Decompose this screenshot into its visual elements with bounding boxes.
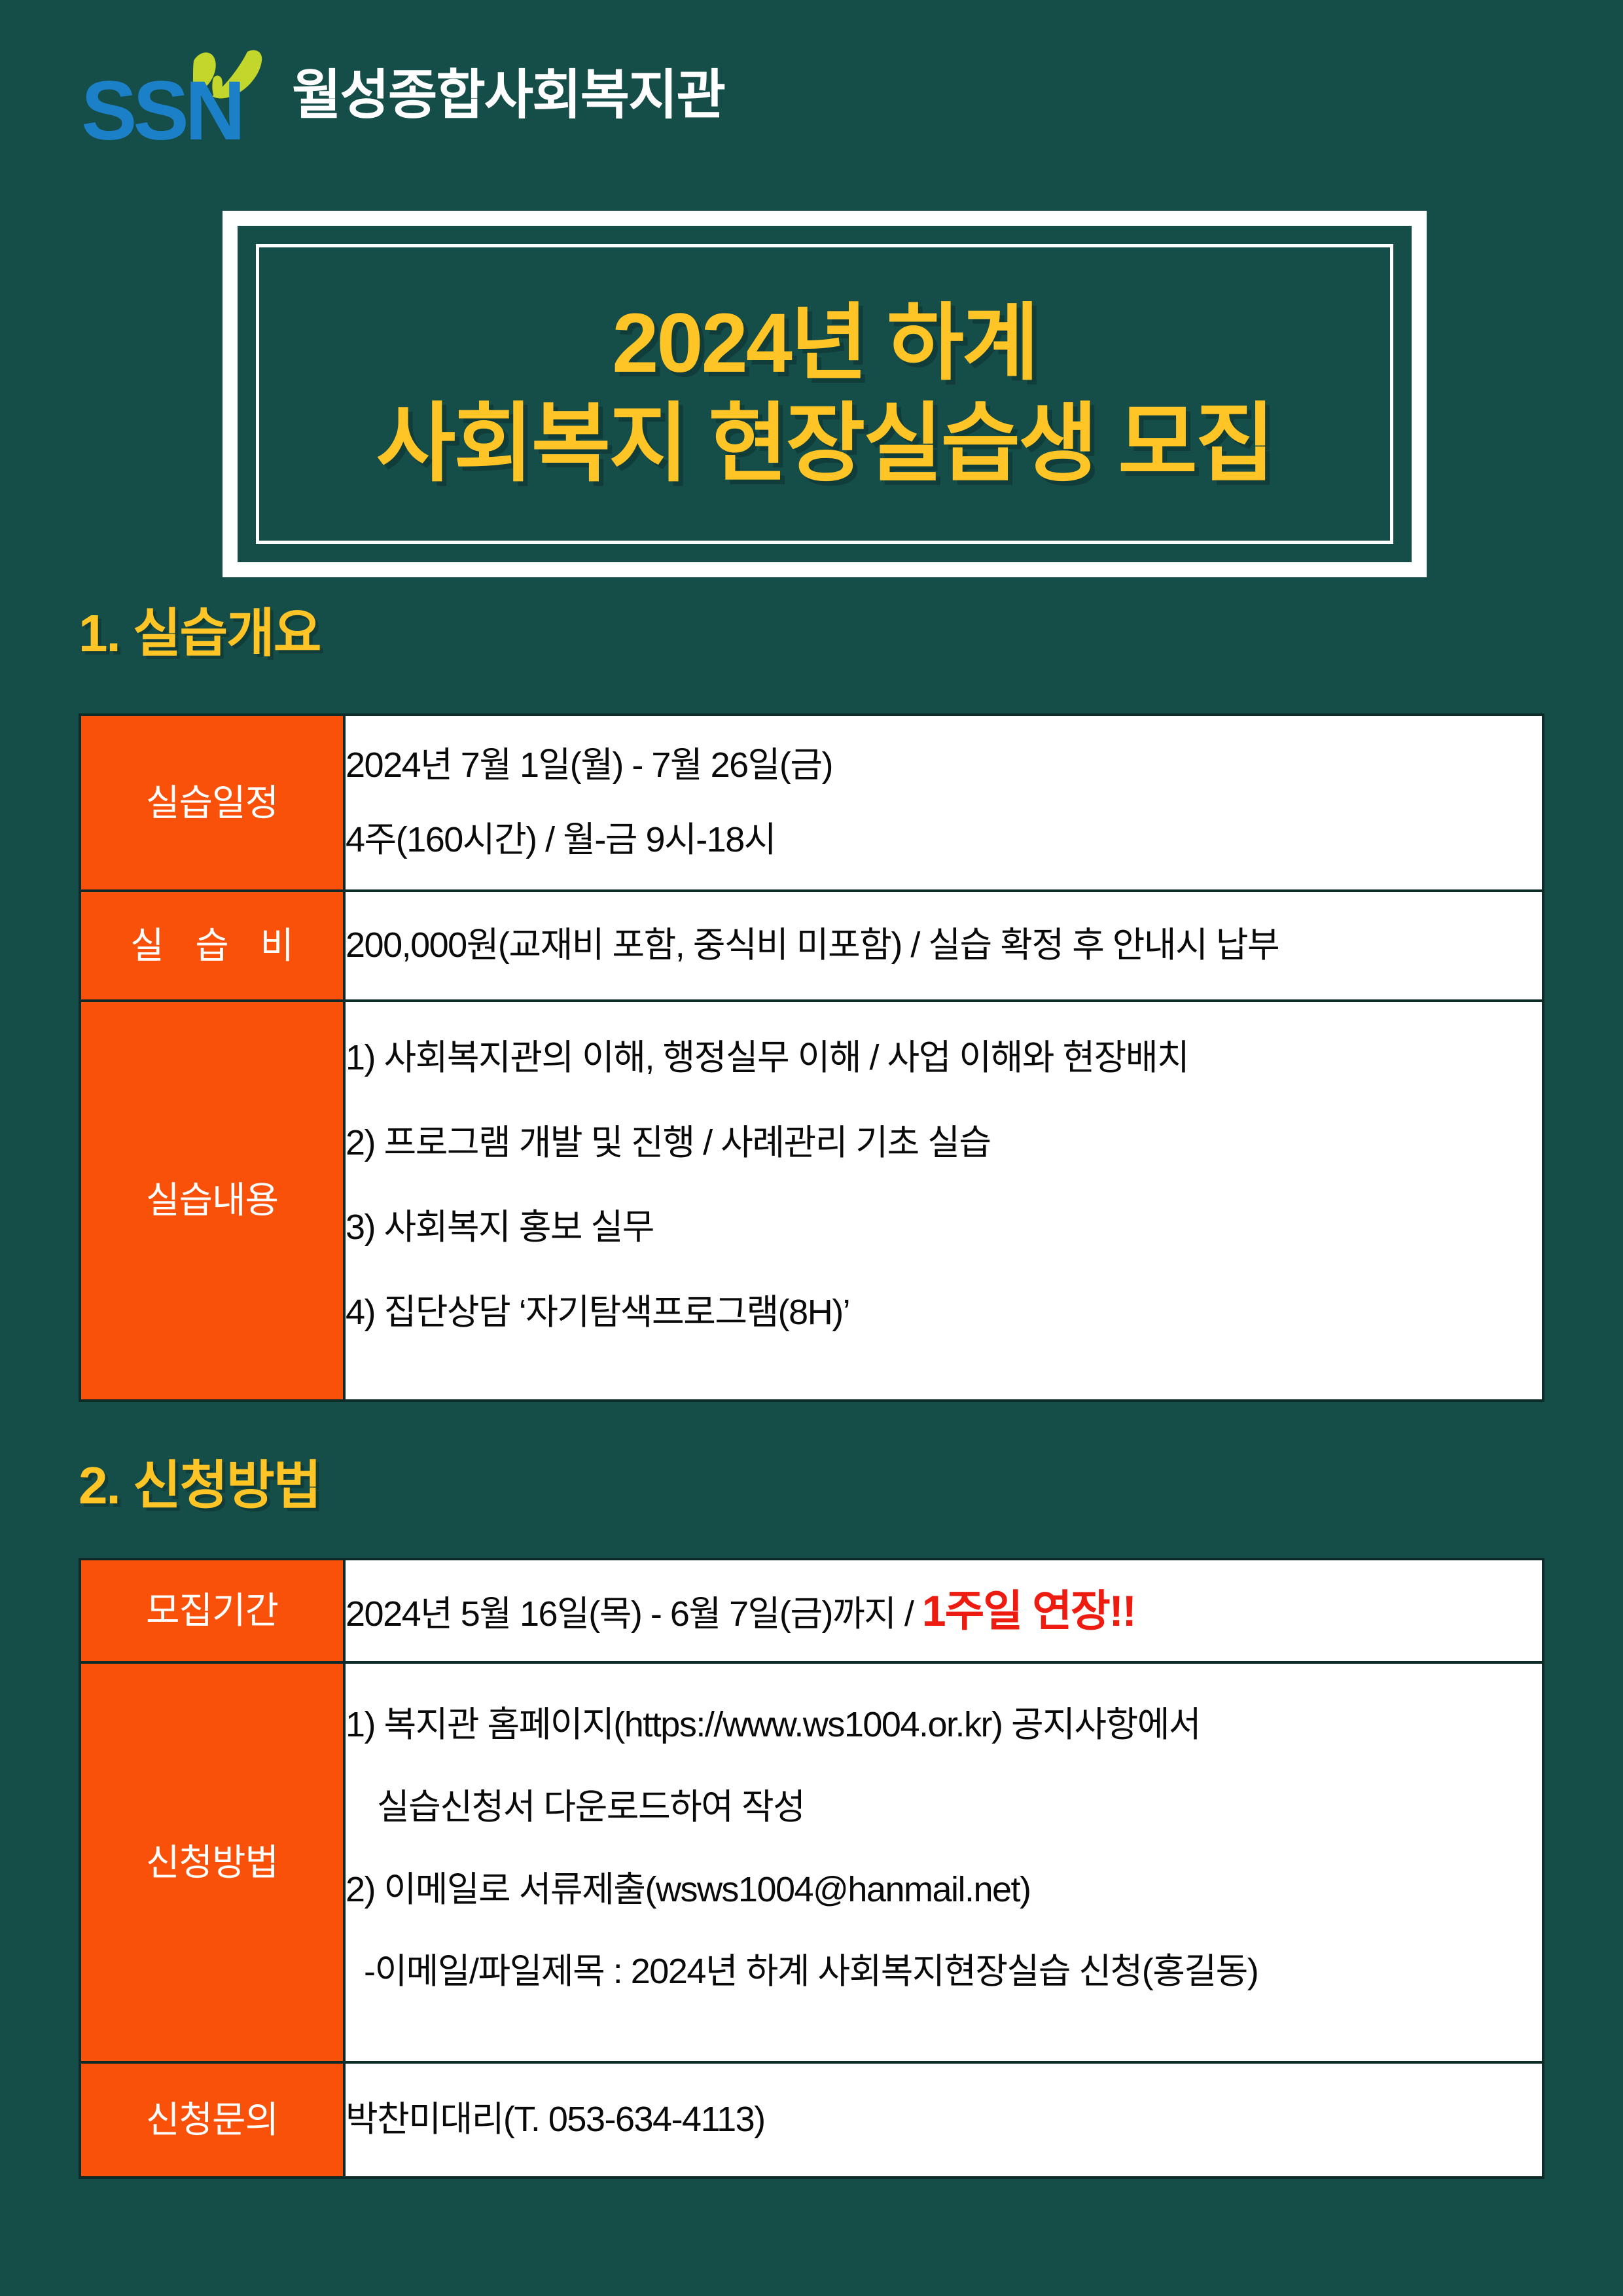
table-row: 실 습 비 200,000원(교재비 포함, 중식비 미포함) / 실습 확정 … [80, 891, 1543, 1001]
row-label-fee: 실 습 비 [80, 891, 344, 1001]
poster-header: SSN 월성종합사회복지관 [79, 33, 724, 151]
period-line: 2024년 5월 16일(목) - 6월 7일(금)까지 / 1주일 연장!! [346, 1577, 1542, 1644]
method-line-4: -이메일/파일제목 : 2024년 하계 사회복지현장실습 신청(홍길동) [346, 1945, 1542, 2000]
practicum-overview-table: 실습일정 2024년 7월 1일(월) - 7월 26일(금) 4주(160시간… [79, 713, 1544, 1402]
svg-text:SSN: SSN [81, 64, 241, 149]
title-banner: 2024년 하계 사회복지 현장실습생 모집 [223, 211, 1427, 577]
row-value-period: 2024년 5월 16일(목) - 6월 7일(금)까지 / 1주일 연장!! [344, 1559, 1543, 1662]
method-line-3: 2) 이메일로 서류제출(wsws1004@hanmail.net) [346, 1863, 1542, 1918]
row-value-method: 1) 복지관 홈페이지(https://www.ws1004.or.kr) 공지… [344, 1662, 1543, 2062]
content-line-3: 3) 사회복지 홍보 실무 [346, 1200, 1542, 1255]
content-line-1: 1) 사회복지관의 이해, 행정실무 이해 / 사업 이해와 현장배치 [346, 1031, 1542, 1086]
row-label-method: 신청방법 [80, 1662, 344, 2062]
inquiry-line-1: 박찬미대리(T. 053-634-4113) [346, 2092, 1542, 2147]
row-value-schedule: 2024년 7월 1일(월) - 7월 26일(금) 4주(160시간) / 월… [344, 715, 1543, 891]
method-line-2: 실습신청서 다운로드하여 작성 [346, 1780, 1542, 1835]
title-line-1: 2024년 하계 [612, 294, 1037, 393]
row-label-inquiry: 신청문의 [80, 2062, 344, 2178]
table-row: 신청문의 박찬미대리(T. 053-634-4113) [80, 2062, 1543, 2178]
row-value-fee: 200,000원(교재비 포함, 중식비 미포함) / 실습 확정 후 안내시 … [344, 891, 1543, 1001]
row-label-content: 실습내용 [80, 1001, 344, 1401]
row-label-schedule: 실습일정 [80, 715, 344, 891]
organization-name: 월성종합사회복지관 [292, 69, 724, 122]
period-extension-badge: 1주일 연장!! [922, 1587, 1135, 1635]
content-line-4: 4) 집단상담 ‘자기탐색프로그램(8H)’ [346, 1285, 1542, 1340]
title-line-2: 사회복지 현장실습생 모집 [376, 393, 1273, 495]
section-heading-overview: 1. 실습개요 [79, 607, 320, 660]
title-banner-inner: 2024년 하계 사회복지 현장실습생 모집 [238, 226, 1412, 562]
table-row: 신청방법 1) 복지관 홈페이지(https://www.ws1004.or.k… [80, 1662, 1543, 2062]
schedule-line-2: 4주(160시간) / 월-금 9시-18시 [346, 813, 1542, 868]
row-value-inquiry: 박찬미대리(T. 053-634-4113) [344, 2062, 1543, 2178]
poster-page: SSN 월성종합사회복지관 2024년 하계 사회복지 현장실습생 모집 1. … [0, 0, 1623, 2296]
title-banner-rule: 2024년 하계 사회복지 현장실습생 모집 [256, 244, 1393, 544]
section-heading-apply: 2. 신청방법 [79, 1460, 320, 1512]
period-dates: 2024년 5월 16일(목) - 6월 7일(금)까지 / [346, 1594, 922, 1634]
application-method-table: 모집기간 2024년 5월 16일(목) - 6월 7일(금)까지 / 1주일 … [79, 1558, 1544, 2179]
fee-line-1: 200,000원(교재비 포함, 중식비 미포함) / 실습 확정 후 안내시 … [346, 918, 1542, 973]
method-line-1: 1) 복지관 홈페이지(https://www.ws1004.or.kr) 공지… [346, 1698, 1542, 1753]
ssn-logo: SSN [79, 35, 275, 149]
row-value-content: 1) 사회복지관의 이해, 행정실무 이해 / 사업 이해와 현장배치 2) 프… [344, 1001, 1543, 1401]
table-row: 실습내용 1) 사회복지관의 이해, 행정실무 이해 / 사업 이해와 현장배치… [80, 1001, 1543, 1401]
content-line-2: 2) 프로그램 개발 및 진행 / 사례관리 기초 실습 [346, 1116, 1542, 1171]
row-label-period: 모집기간 [80, 1559, 344, 1662]
table-row: 모집기간 2024년 5월 16일(목) - 6월 7일(금)까지 / 1주일 … [80, 1559, 1543, 1662]
table-row: 실습일정 2024년 7월 1일(월) - 7월 26일(금) 4주(160시간… [80, 715, 1543, 891]
schedule-line-1: 2024년 7월 1일(월) - 7월 26일(금) [346, 738, 1542, 793]
